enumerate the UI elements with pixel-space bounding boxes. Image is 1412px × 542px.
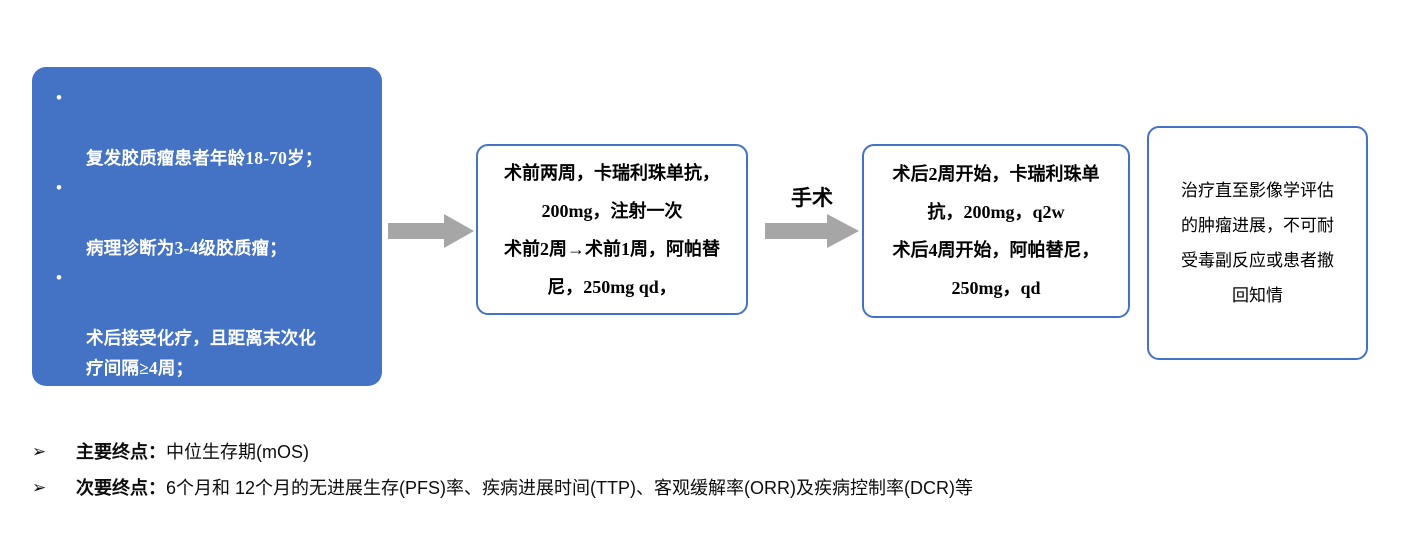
primary-endpoint-row: ➢ 主要终点：中位生存期(mOS) bbox=[24, 434, 1384, 470]
bullet-icon: • bbox=[56, 173, 62, 203]
criterion-item: • 病理诊断为3-4级胶质瘤； bbox=[42, 173, 372, 263]
bullet-icon: • bbox=[56, 383, 62, 413]
postoperative-treatment-box: 术后2周开始，卡瑞利珠单 抗，200mg，q2w 术后4周开始，阿帕替尼， 25… bbox=[862, 144, 1130, 318]
bullet-icon: • bbox=[56, 83, 62, 113]
arrowhead-bullet-icon: ➢ bbox=[32, 470, 46, 506]
eligibility-criteria-box: • 复发胶质瘤患者年龄18-70岁； • 病理诊断为3-4级胶质瘤； • 术后接… bbox=[32, 67, 382, 386]
criterion-text: 术后接受化疗，且距离末次化 疗间隔≥4周； bbox=[86, 328, 316, 378]
secondary-endpoint-label: 次要终点： bbox=[76, 478, 166, 498]
flow-arrow-right-icon bbox=[765, 214, 859, 248]
endpoints-section: ➢ 主要终点：中位生存期(mOS) ➢ 次要终点：6个月和 12个月的无进展生存… bbox=[24, 434, 1384, 506]
diagram-canvas: • 复发胶质瘤患者年龄18-70岁； • 病理诊断为3-4级胶质瘤； • 术后接… bbox=[0, 0, 1412, 542]
preoperative-treatment-text: 术前两周，卡瑞利珠单抗， 200mg，注射一次 术前2周→术前1周，阿帕替 尼，… bbox=[504, 154, 720, 306]
primary-endpoint-label: 主要终点： bbox=[76, 442, 166, 462]
primary-endpoint-value: 中位生存期(mOS) bbox=[166, 442, 309, 462]
flow-arrow-right-icon bbox=[388, 214, 474, 248]
treatment-until-progression-text: 治疗直至影像学评估 的肿瘤进展，不可耐 受毒副反应或患者撤 回知情 bbox=[1181, 173, 1334, 313]
criterion-text: 病理诊断为3-4级胶质瘤； bbox=[86, 238, 287, 258]
criterion-item: • 复发胶质瘤患者年龄18-70岁； bbox=[42, 83, 372, 173]
treatment-until-progression-box: 治疗直至影像学评估 的肿瘤进展，不可耐 受毒副反应或患者撤 回知情 bbox=[1147, 126, 1368, 360]
bullet-icon: • bbox=[56, 263, 62, 293]
criterion-item: • 术后接受化疗，且距离末次化 疗间隔≥4周； bbox=[42, 263, 372, 383]
surgery-step-label: 手术 bbox=[770, 182, 854, 212]
secondary-endpoint-value: 6个月和 12个月的无进展生存(PFS)率、疾病进展时间(TTP)、客观缓解率(… bbox=[166, 478, 973, 498]
criterion-text: 复发胶质瘤患者年龄18-70岁； bbox=[86, 148, 323, 168]
arrowhead-bullet-icon: ➢ bbox=[32, 434, 46, 470]
postoperative-treatment-text: 术后2周开始，卡瑞利珠单 抗，200mg，q2w 术后4周开始，阿帕替尼， 25… bbox=[893, 155, 1100, 307]
preoperative-treatment-box: 术前两周，卡瑞利珠单抗， 200mg，注射一次 术前2周→术前1周，阿帕替 尼，… bbox=[476, 144, 748, 315]
secondary-endpoint-row: ➢ 次要终点：6个月和 12个月的无进展生存(PFS)率、疾病进展时间(TTP)… bbox=[24, 470, 1384, 506]
